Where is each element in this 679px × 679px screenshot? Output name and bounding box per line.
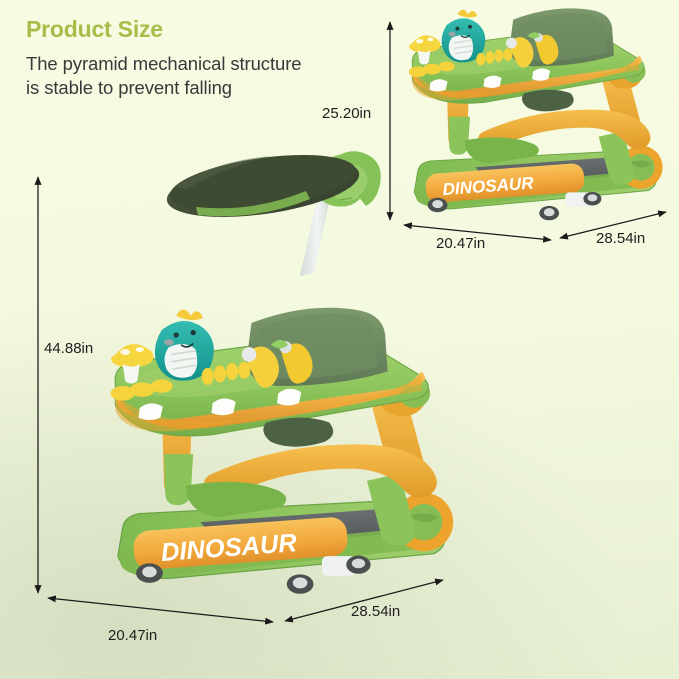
product-size-infographic: Product Size The pyramid mechanical stru…: [0, 0, 679, 679]
dimension-arrow-folded-width: [404, 225, 551, 240]
product-image-folded-walker: DINOSAUR: [409, 8, 663, 220]
product-image-main-walker: DINOSAUR: [111, 145, 454, 594]
push-handle-assembly: [163, 145, 381, 276]
product-illustrations: DINOSAUR: [0, 0, 679, 679]
dimension-arrow-main-width: [48, 598, 273, 622]
dimension-arrow-folded-depth: [560, 212, 666, 238]
